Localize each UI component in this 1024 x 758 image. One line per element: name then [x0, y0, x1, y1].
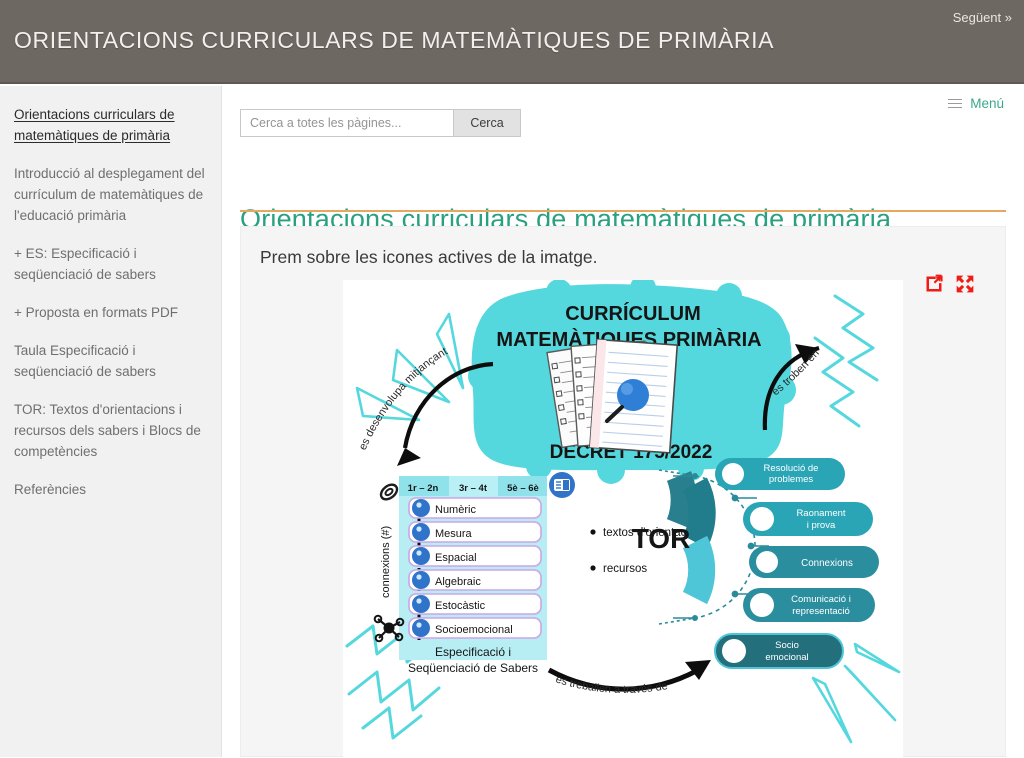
competence-pill: Comunicació i representació — [743, 588, 875, 622]
sidebar-item-referencies[interactable]: Referències — [14, 479, 207, 500]
infographic-image[interactable]: .ttl { font-family:"Liberation Sans", sa… — [343, 280, 903, 758]
tor-label: TOR — [632, 523, 691, 554]
banner-title: ORIENTACIONS CURRICULARS DE MATEMÀTIQUES… — [14, 27, 774, 54]
menu-toggle-label: Menú — [970, 96, 1004, 111]
sabers-caption-line2: Seqüenciació de Sabers — [408, 661, 538, 675]
sabers-row: Numèric — [409, 498, 541, 518]
sidebar-item-taula-especificacio[interactable]: Taula Especificació i seqüenciació de sa… — [14, 340, 207, 382]
competence-pill: Resolució de problemes — [715, 458, 845, 490]
sabers-row: Mesura — [409, 522, 541, 542]
sabers-row: Espacial — [409, 546, 541, 566]
svg-text:representació: representació — [792, 606, 850, 617]
book-badge-icon — [549, 472, 575, 498]
sabers-row: Socioemocional — [409, 618, 541, 638]
svg-text:problemes: problemes — [769, 474, 814, 485]
sabers-side-label: connexions (#) — [380, 526, 392, 598]
sidebar-nav: Orientacions curriculars de matemàtiques… — [0, 86, 222, 757]
infographic-title-line1: CURRÍCULUM — [565, 302, 701, 325]
sabers-row-label: Socioemocional — [435, 624, 513, 636]
sidebar-item-orientacions[interactable]: Orientacions curriculars de matemàtiques… — [14, 104, 207, 146]
sabers-col-1: 1r – 2n — [408, 483, 439, 494]
sabers-row-label: Algebraic — [435, 576, 481, 588]
open-external-icon[interactable] — [924, 274, 944, 294]
sabers-block: 1r – 2n 3r – 4t 5è – 6è Numèric — [375, 472, 575, 675]
sabers-row-label: Mesura — [435, 528, 473, 540]
competence-pill: Socio emocional — [715, 634, 843, 668]
svg-text:emocional: emocional — [765, 652, 808, 663]
content-card: Prem sobre les icones actives de la imat… — [240, 226, 1006, 757]
documents-illustration — [547, 340, 677, 453]
search-button[interactable]: Cerca — [453, 109, 521, 137]
competence-label: Raonament — [796, 508, 845, 519]
competence-label: Comunicació i — [791, 594, 851, 605]
menu-toggle-button[interactable]: Menú — [948, 96, 1004, 111]
sabers-row-label: Estocàstic — [435, 600, 486, 612]
competence-pill: Raonament i prova — [743, 502, 873, 536]
competence-pill: Connexions — [749, 546, 879, 578]
competence-label: Socio — [775, 640, 799, 651]
competence-label: Resolució de — [764, 463, 819, 474]
title-divider — [240, 210, 1006, 212]
card-toolbar — [924, 274, 975, 294]
sabers-col-2: 3r – 4t — [459, 483, 488, 494]
sidebar-item-es-especificacio[interactable]: + ES: Especificació i seqüenciació de sa… — [14, 243, 207, 285]
search-form: Cerca — [240, 109, 521, 137]
sidebar-item-tor[interactable]: TOR: Textos d'orientacions i recursos de… — [14, 399, 207, 462]
search-input[interactable] — [240, 109, 453, 137]
sabers-row-label: Espacial — [435, 552, 477, 564]
svg-text:i prova: i prova — [807, 520, 836, 531]
main-content: Menú Cerca Orientacions curriculars de m… — [223, 86, 1024, 757]
sabers-row: Algebraic — [409, 570, 541, 590]
sabers-col-3: 5è – 6è — [507, 483, 539, 494]
competence-label: Connexions — [801, 558, 853, 569]
sabers-row: Estocàstic — [409, 594, 541, 614]
fullscreen-expand-icon[interactable] — [955, 274, 975, 294]
site-banner: ORIENTACIONS CURRICULARS DE MATEMÀTIQUES… — [0, 0, 1024, 84]
sabers-row-label: Numèric — [435, 504, 476, 516]
hamburger-icon — [948, 99, 962, 109]
card-instruction-text: Prem sobre les icones actives de la imat… — [260, 247, 598, 268]
sabers-caption-line1: Especificació i — [435, 645, 511, 659]
tor-bullet-2: recursos — [603, 563, 647, 575]
next-page-link[interactable]: Següent » — [953, 10, 1012, 25]
sidebar-item-introduccio[interactable]: Introducció al desplegament del currícul… — [14, 163, 207, 226]
sidebar-item-proposta-pdf[interactable]: + Proposta en formats PDF — [14, 302, 207, 323]
